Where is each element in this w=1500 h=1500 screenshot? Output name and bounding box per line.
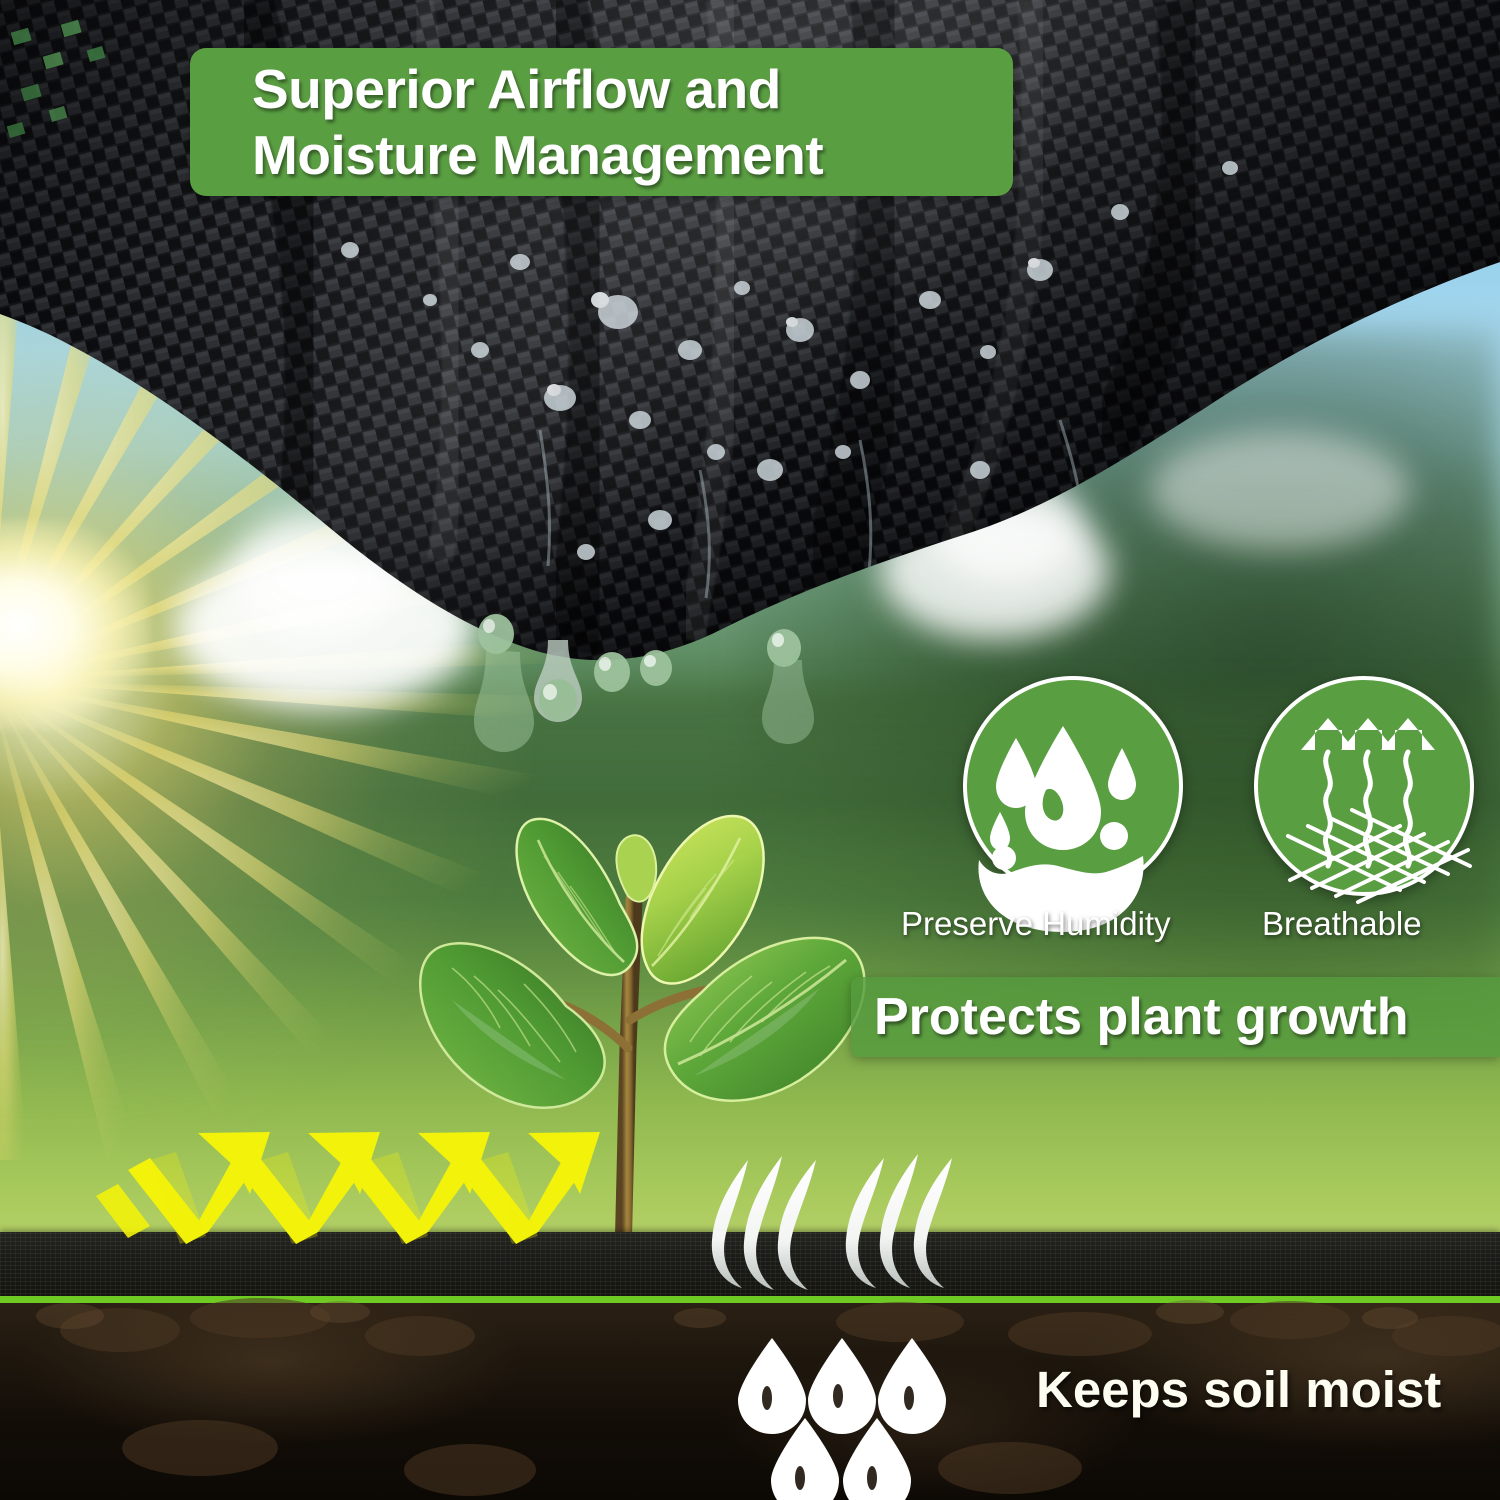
cloud-puff bbox=[1150, 430, 1410, 550]
headline-line-1: Superior Airflow and bbox=[252, 56, 1013, 122]
ground-cover-fabric-strip bbox=[0, 1232, 1500, 1298]
sun-core bbox=[0, 520, 150, 730]
feature-label-breathable: Breathable bbox=[1262, 905, 1422, 943]
cloud-puff bbox=[232, 510, 402, 640]
feature-circle-preserve-humidity[interactable] bbox=[963, 676, 1183, 896]
feature-label-preserve-humidity: Preserve Humidity bbox=[901, 905, 1171, 943]
feature-circle-breathable[interactable] bbox=[1254, 676, 1474, 896]
product-feature-image: Superior Airflow and Moisture Management bbox=[0, 0, 1500, 1500]
headline-badge: Superior Airflow and Moisture Management bbox=[190, 48, 1013, 196]
keeps-soil-moist-text: Keeps soil moist bbox=[1036, 1359, 1441, 1421]
cloud-puff bbox=[932, 470, 1082, 585]
headline-line-2: Moisture Management bbox=[252, 122, 1013, 188]
protects-plant-growth-text: Protects plant growth bbox=[874, 985, 1408, 1049]
